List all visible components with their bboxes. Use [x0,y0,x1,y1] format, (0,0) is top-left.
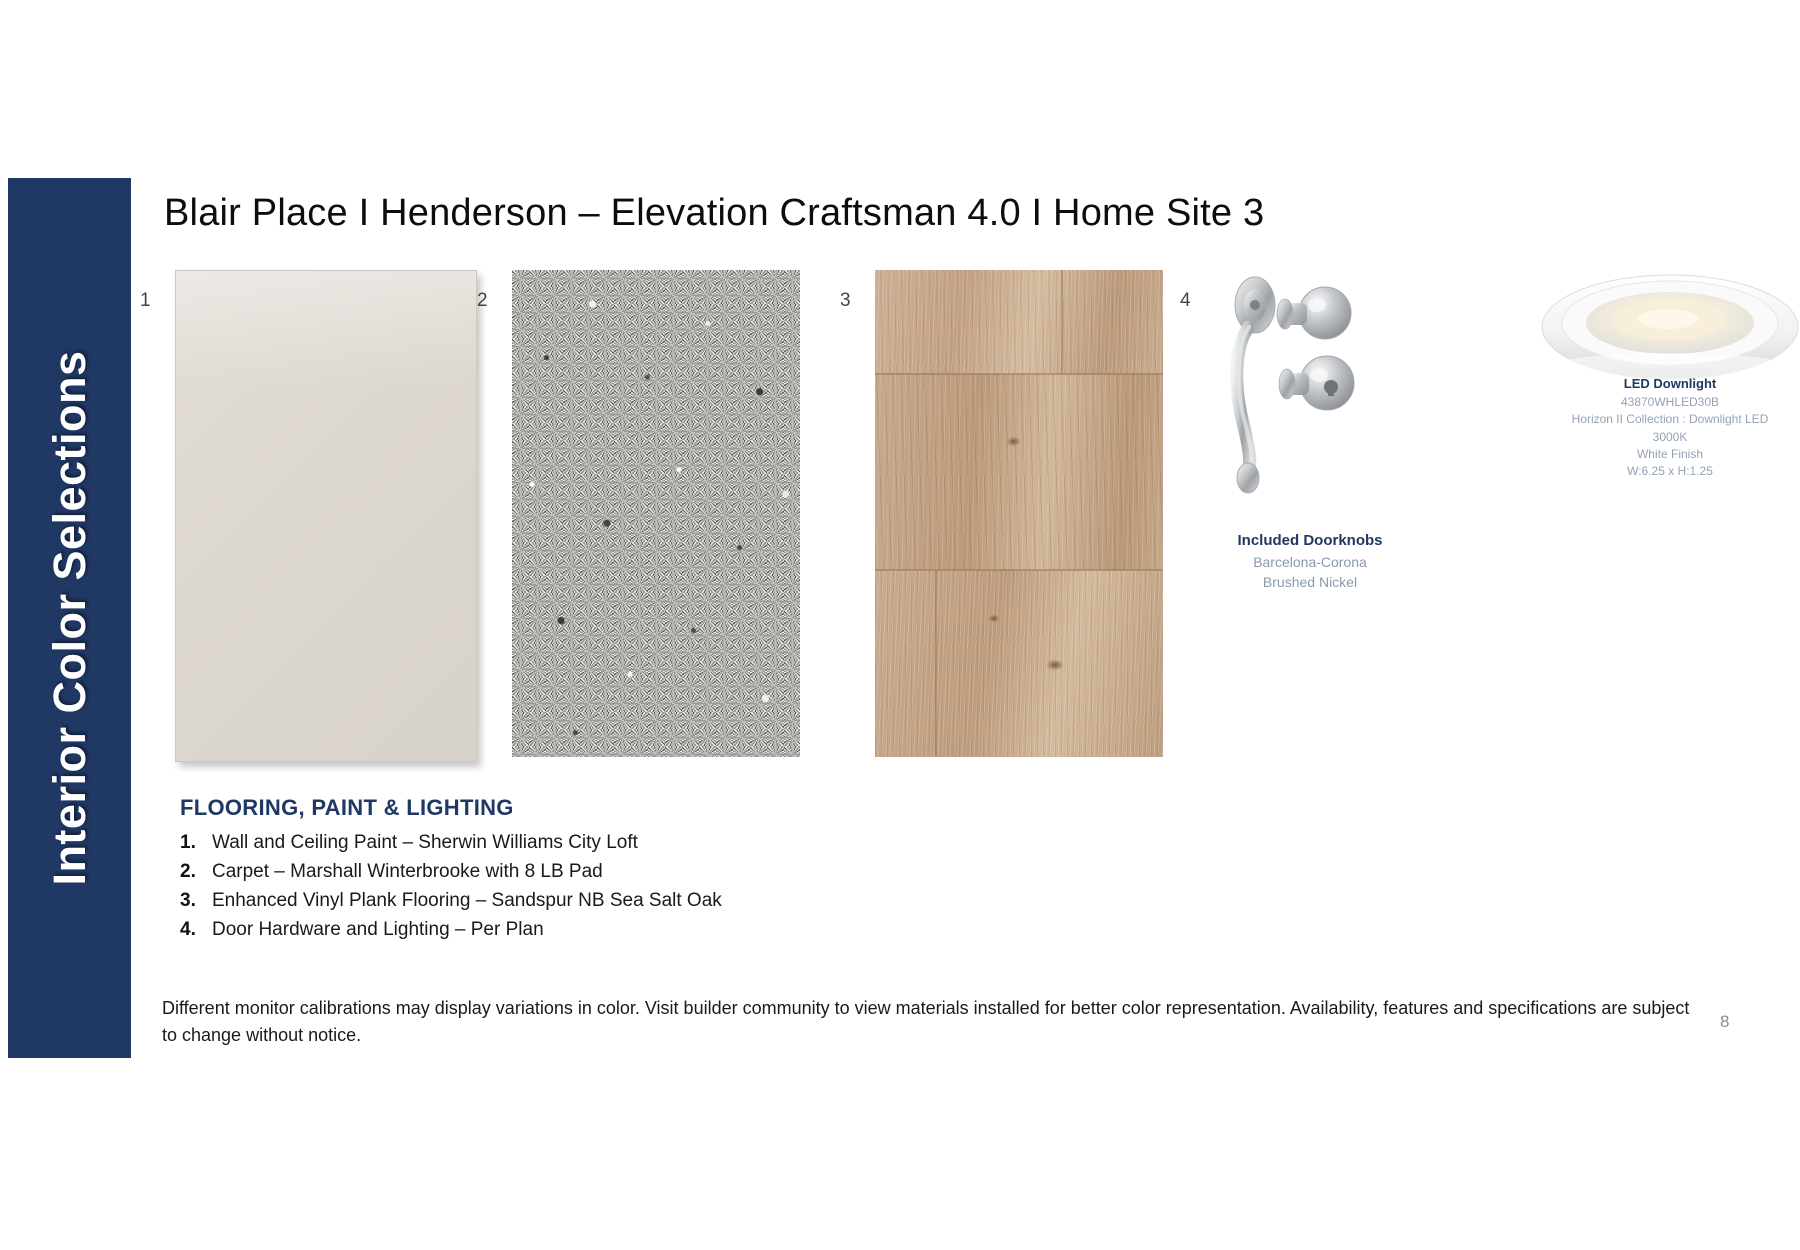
list-item: 3. Enhanced Vinyl Plank Flooring – Sands… [180,887,940,916]
doorknob-caption: Included Doorknobs Barcelona-Corona Brus… [1160,530,1460,592]
swatch-row: 1 2 3 4 [140,265,1760,685]
page-title: Blair Place I Henderson – Elevation Craf… [164,192,1264,235]
plank-board [875,374,1163,570]
selections-block: FLOORING, PAINT & LIGHTING 1. Wall and C… [180,795,940,945]
swatch-number-4: 4 [1180,290,1191,312]
sidebar-title: Interior Color Selections [44,350,96,885]
list-item: 4. Door Hardware and Lighting – Per Plan [180,916,940,945]
wood-knot [1047,660,1063,670]
swatch-vinyl-plank [875,270,1163,757]
plank-seam [1061,270,1063,374]
selections-heading: FLOORING, PAINT & LIGHTING [180,795,940,821]
wood-knot [1007,437,1020,446]
plank-seam [875,569,1163,571]
doorknob-caption-line: Barcelona-Corona [1160,552,1460,572]
swatch-number-2: 2 [477,290,488,312]
disclaimer-text: Different monitor calibrations may displ… [162,995,1707,1049]
downlight-caption-line: W:6.25 x H:1.25 [1500,463,1800,480]
list-item: 1. Wall and Ceiling Paint – Sherwin Will… [180,829,940,858]
doorknob-caption-line: Brushed Nickel [1160,572,1460,592]
page-number: 8 [1720,1012,1729,1032]
swatch-paint-chip [175,270,477,762]
wood-knot [989,615,999,622]
plank-seam [935,570,937,757]
swatch-number-1: 1 [140,290,151,312]
list-item-number: 2. [180,858,212,887]
list-item-text: Enhanced Vinyl Plank Flooring – Sandspur… [212,887,722,916]
doorknob-caption-heading: Included Doorknobs [1160,530,1460,552]
list-item-number: 3. [180,887,212,916]
swatch-carpet [512,270,800,757]
downlight-caption-heading: LED Downlight [1500,375,1800,394]
swatch-number-3: 3 [840,290,851,312]
selections-list: 1. Wall and Ceiling Paint – Sherwin Will… [180,829,940,945]
downlight-caption-line: 43870WHLED30B [1500,394,1800,411]
list-item-text: Door Hardware and Lighting – Per Plan [212,916,544,945]
plank-board [875,570,1163,757]
list-item-text: Wall and Ceiling Paint – Sherwin William… [212,829,638,858]
list-item: 2. Carpet – Marshall Winterbrooke with 8… [180,858,940,887]
list-item-number: 1. [180,829,212,858]
downlight-caption-line: 3000K [1500,429,1800,446]
sidebar-banner: Interior Color Selections [8,178,131,1058]
plank-board [875,270,1163,374]
doorknob-set-icon [1215,265,1485,565]
list-item-number: 4. [180,916,212,945]
downlight-caption-line: White Finish [1500,446,1800,463]
list-item-text: Carpet – Marshall Winterbrooke with 8 LB… [212,858,603,887]
led-downlight-group: LED Downlight 43870WHLED30B Horizon II C… [1500,265,1800,565]
downlight-caption-line: Horizon II Collection : Downlight LED [1500,411,1800,428]
plank-seam [875,373,1163,375]
